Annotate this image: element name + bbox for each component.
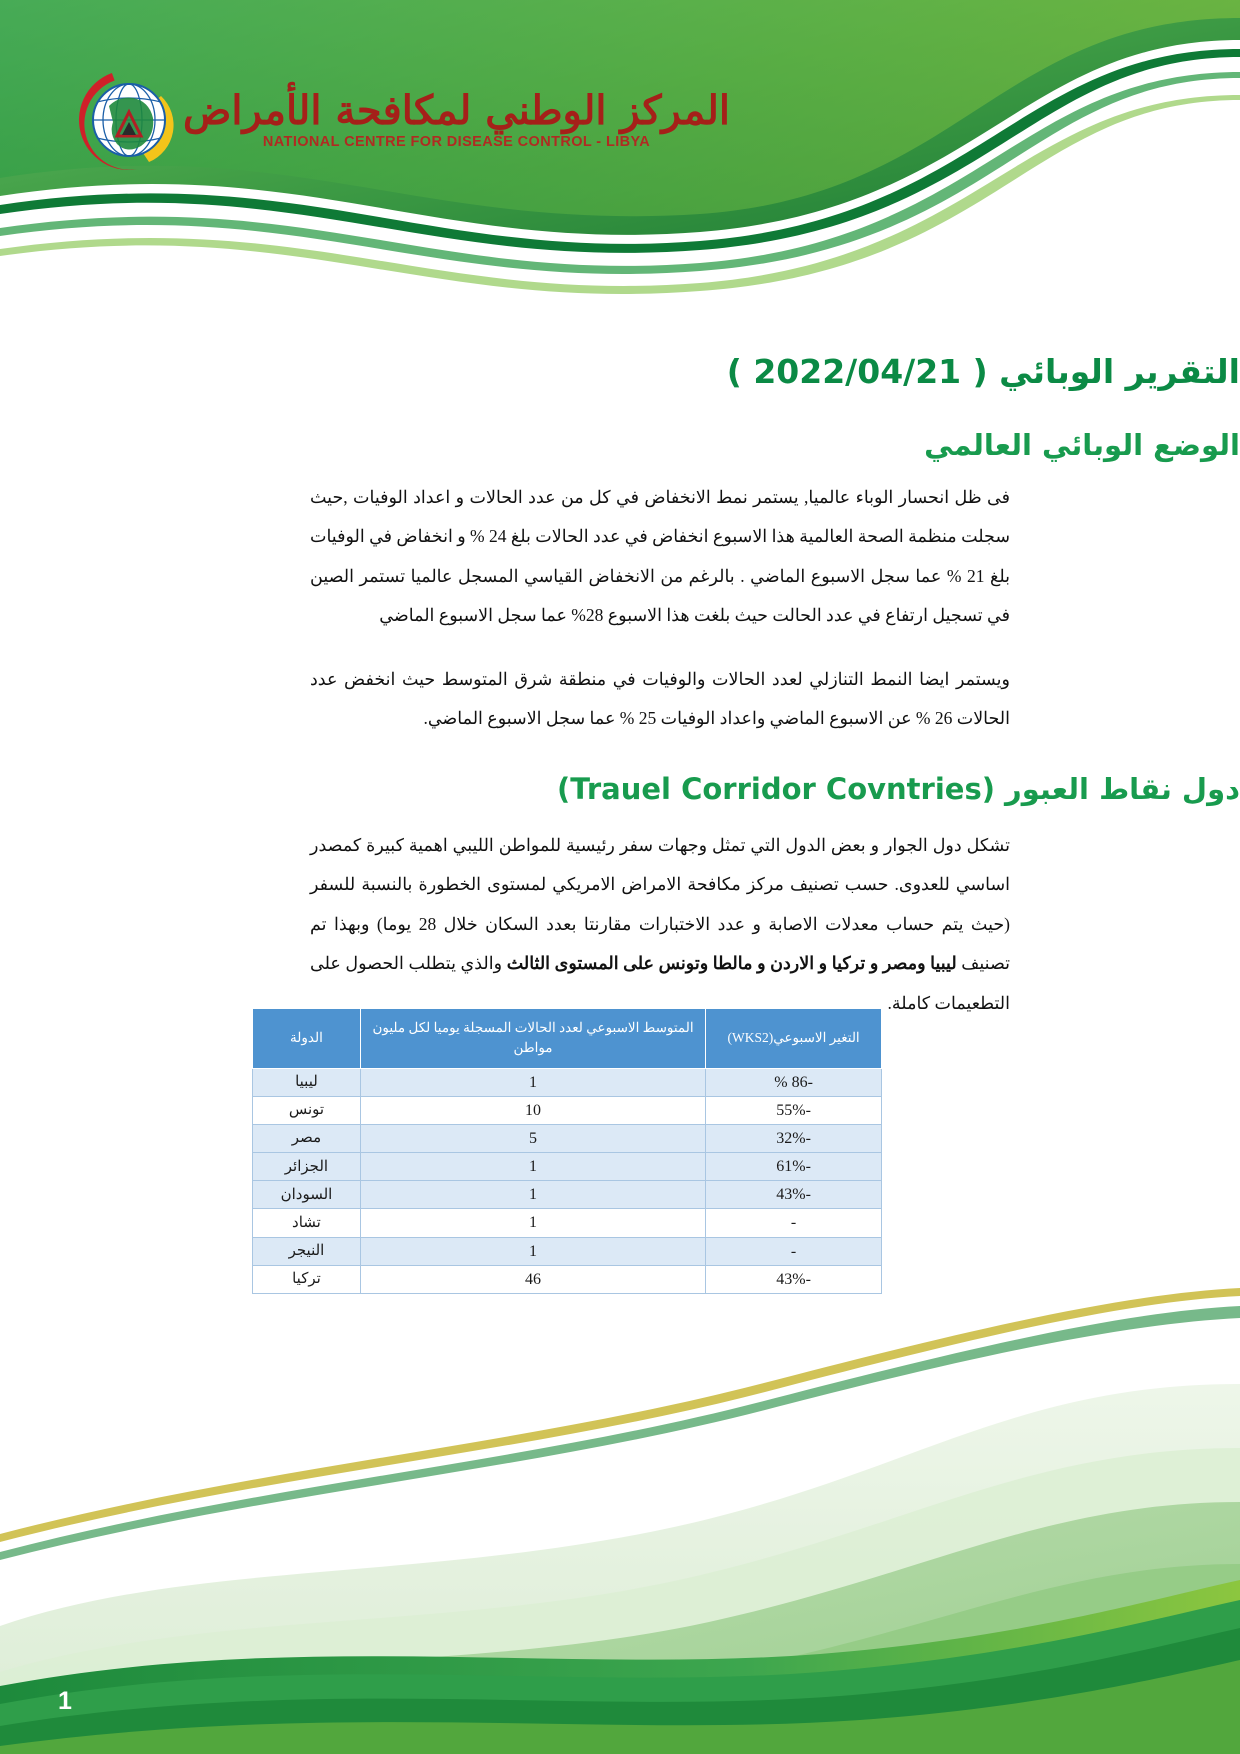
corridor-paragraph: تشكل دول الجوار و بعض الدول التي تمثل وج…: [310, 826, 1010, 1023]
cell-country: النيجر: [253, 1237, 361, 1265]
cell-change: -86 %: [706, 1068, 882, 1096]
cell-country: مصر: [253, 1124, 361, 1152]
table-row: -43% 1 السودان: [253, 1181, 882, 1209]
brand-arabic-name: المركز الوطني لمكافحة الأمراض: [183, 90, 730, 132]
table-row: -55% 10 تونس: [253, 1096, 882, 1124]
table-row: -86 % 1 ليبيا: [253, 1068, 882, 1096]
cell-average: 1: [360, 1068, 705, 1096]
global-paragraph-2: ويستمر ايضا النمط التنازلي لعدد الحالات …: [310, 660, 1010, 739]
cell-change: -55%: [706, 1096, 882, 1124]
global-paragraph-1: فى ظل انحسار الوباء عالميا, يستمر نمط ال…: [310, 478, 1010, 636]
column-header-weekly-change: التغير الاسبوعي(WKS2): [706, 1009, 882, 1069]
cell-country: تركيا: [253, 1265, 361, 1293]
table-row: - 1 تشاد: [253, 1209, 882, 1237]
travel-corridor-table-wrap: التغير الاسبوعي(WKS2) المتوسط الاسبوعي ل…: [252, 1008, 882, 1294]
cell-average: 10: [360, 1096, 705, 1124]
table-row: -32% 5 مصر: [253, 1124, 882, 1152]
cell-country: ليبيا: [253, 1068, 361, 1096]
brand-logo: المركز الوطني لمكافحة الأمراض NATIONAL C…: [75, 62, 535, 177]
page-footer-banner: 1: [0, 1234, 1240, 1754]
cell-change: -43%: [706, 1265, 882, 1293]
cell-country: السودان: [253, 1181, 361, 1209]
travel-corridor-table: التغير الاسبوعي(WKS2) المتوسط الاسبوعي ل…: [252, 1008, 882, 1294]
page-header-banner: المركز الوطني لمكافحة الأمراض NATIONAL C…: [0, 0, 1240, 330]
brand-english-name: NATIONAL CENTRE FOR DISEASE CONTROL - LI…: [183, 134, 730, 150]
cell-country: تشاد: [253, 1209, 361, 1237]
section-heading-global-situation: الوضع الوبائي العالمي: [230, 428, 1240, 462]
cell-average: 5: [360, 1124, 705, 1152]
cell-average: 46: [360, 1265, 705, 1293]
cell-change: -43%: [706, 1181, 882, 1209]
table-row: - 1 النيجر: [253, 1237, 882, 1265]
report-title: التقرير الوبائي ( 2022/04/21 ): [230, 352, 1240, 391]
footer-wave-graphic: [0, 1234, 1240, 1754]
cell-change: -61%: [706, 1153, 882, 1181]
section-heading-travel-corridor: دول نقاط العبور (Trauel Corridor Covntri…: [230, 772, 1240, 806]
column-header-daily-average: المتوسط الاسبوعي لعدد الحالات المسجلة يو…: [360, 1009, 705, 1069]
cell-change: -: [706, 1209, 882, 1237]
page-number: 1: [58, 1687, 72, 1716]
cell-average: 1: [360, 1237, 705, 1265]
cell-country: تونس: [253, 1096, 361, 1124]
cell-average: 1: [360, 1153, 705, 1181]
column-header-country: الدولة: [253, 1009, 361, 1069]
cell-average: 1: [360, 1181, 705, 1209]
cell-country: الجزائر: [253, 1153, 361, 1181]
ncdc-globe-crescent-logo-icon: [75, 66, 183, 174]
table-body: -86 % 1 ليبيا -55% 10 تونس -32% 5 مصر -6…: [253, 1068, 882, 1294]
cell-change: -: [706, 1237, 882, 1265]
cell-change: -32%: [706, 1124, 882, 1152]
table-header-row: التغير الاسبوعي(WKS2) المتوسط الاسبوعي ل…: [253, 1009, 882, 1069]
corridor-text-bold: ليبيا ومصر و تركيا و الاردن و مالطا وتون…: [507, 953, 957, 973]
cell-average: 1: [360, 1209, 705, 1237]
table-row: -61% 1 الجزائر: [253, 1153, 882, 1181]
table-row: -43% 46 تركيا: [253, 1265, 882, 1293]
